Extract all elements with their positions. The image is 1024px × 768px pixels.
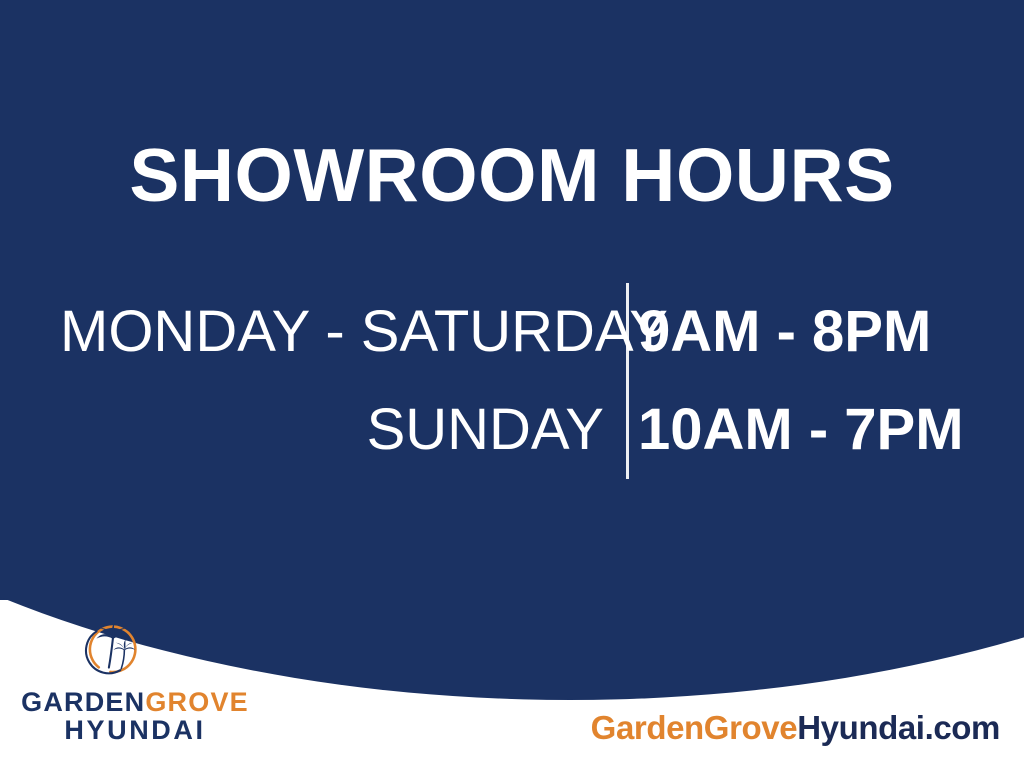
hours-day-label: SUNDAY <box>60 401 604 459</box>
palm-tree-circle-logo-icon <box>82 618 144 680</box>
dealer-wordmark: GARDENGROVE HYUNDAI <box>10 688 260 745</box>
website-url[interactable]: GardenGroveHyundai.com <box>591 709 1000 747</box>
hours-row: SUNDAY 10AM - 7PM <box>60 381 960 479</box>
website-url-domain: Hyundai.com <box>797 709 1000 746</box>
hours-time-value: 10AM - 7PM <box>604 401 960 459</box>
hours-table: MONDAY - SATURDAY 9AM - 8PM SUNDAY 10AM … <box>60 283 960 479</box>
website-url-brand: GardenGrove <box>591 709 798 746</box>
wordmark-grove: GROVE <box>145 687 249 717</box>
wordmark-hyundai: HYUNDAI <box>10 716 260 744</box>
showroom-hours-poster: SHOWROOM HOURS MONDAY - SATURDAY 9AM - 8… <box>0 0 1024 768</box>
wordmark-garden: GARDEN <box>21 687 145 717</box>
page-title: SHOWROOM HOURS <box>0 138 1024 213</box>
hours-day-label: MONDAY - SATURDAY <box>60 303 604 361</box>
dealer-logo: GARDENGROVE HYUNDAI <box>10 618 260 763</box>
wordmark-line-one: GARDENGROVE <box>10 688 260 716</box>
hours-time-value: 9AM - 8PM <box>604 303 960 361</box>
hours-row: MONDAY - SATURDAY 9AM - 8PM <box>60 283 960 381</box>
